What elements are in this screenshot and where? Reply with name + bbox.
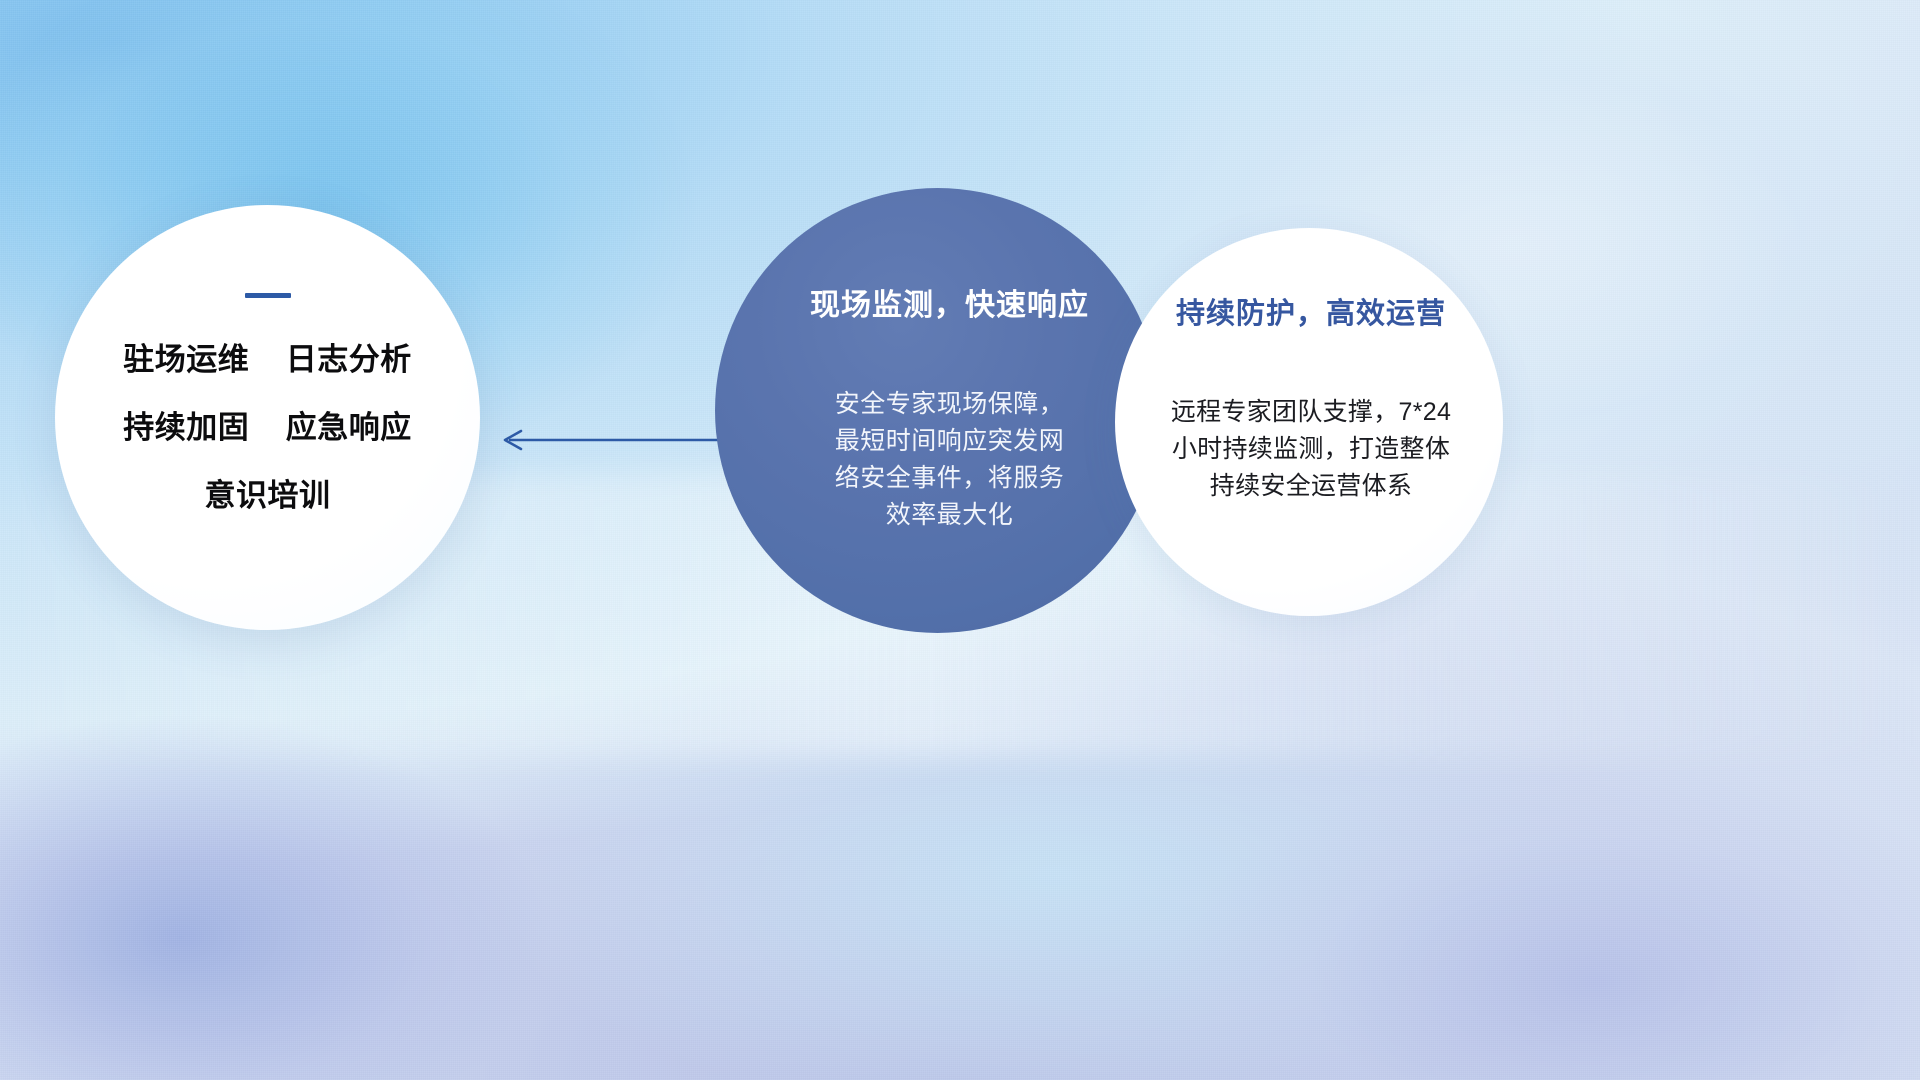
continuous-protection-title: 持续防护，高效运营 [1129,290,1493,332]
onsite-monitoring-body-line-4: 效率最大化 [757,497,1142,534]
diagram-canvas: 驻场运维 日志分析 持续加固 应急响应 意识培训 现场监测，快速响应 安全专家现… [0,0,1920,1080]
continuous-protection-body-line-1: 远程专家团队支撑，7*24 [1129,394,1493,431]
onsite-services-content: 驻场运维 日志分析 持续加固 应急响应 意识培训 [55,293,480,511]
flow-arrow-left [495,425,735,455]
divider-dash [245,293,291,298]
onsite-monitoring-body: 安全专家现场保障， 最短时间响应突发网 络安全事件，将服务 效率最大化 [757,386,1142,534]
continuous-protection-body: 远程专家团队支撑，7*24 小时持续监测，打造整体 持续安全运营体系 [1129,394,1493,505]
continuous-protection-content: 持续防护，高效运营 远程专家团队支撑，7*24 小时持续监测，打造整体 持续安全… [1129,290,1493,505]
service-line-1: 驻场运维 日志分析 [55,344,480,375]
continuous-protection-body-line-2: 小时持续监测，打造整体 [1129,431,1493,468]
service-line-2: 持续加固 应急响应 [55,412,480,443]
arrow-left-icon [495,425,735,455]
onsite-monitoring-content: 现场监测，快速响应 安全专家现场保障， 最短时间响应突发网 络安全事件，将服务 … [757,280,1142,534]
onsite-monitoring-body-line-1: 安全专家现场保障， [757,386,1142,423]
node-onsite-monitoring[interactable]: 现场监测，快速响应 安全专家现场保障， 最短时间响应突发网 络安全事件，将服务 … [715,188,1160,633]
continuous-protection-body-line-3: 持续安全运营体系 [1129,468,1493,505]
node-continuous-protection[interactable]: 持续防护，高效运营 远程专家团队支撑，7*24 小时持续监测，打造整体 持续安全… [1115,228,1503,616]
onsite-monitoring-body-line-2: 最短时间响应突发网 [757,423,1142,460]
onsite-monitoring-body-line-3: 络安全事件，将服务 [757,460,1142,497]
onsite-monitoring-title: 现场监测，快速响应 [757,280,1142,324]
node-onsite-services[interactable]: 驻场运维 日志分析 持续加固 应急响应 意识培训 [55,205,480,630]
service-line-3: 意识培训 [55,480,480,511]
